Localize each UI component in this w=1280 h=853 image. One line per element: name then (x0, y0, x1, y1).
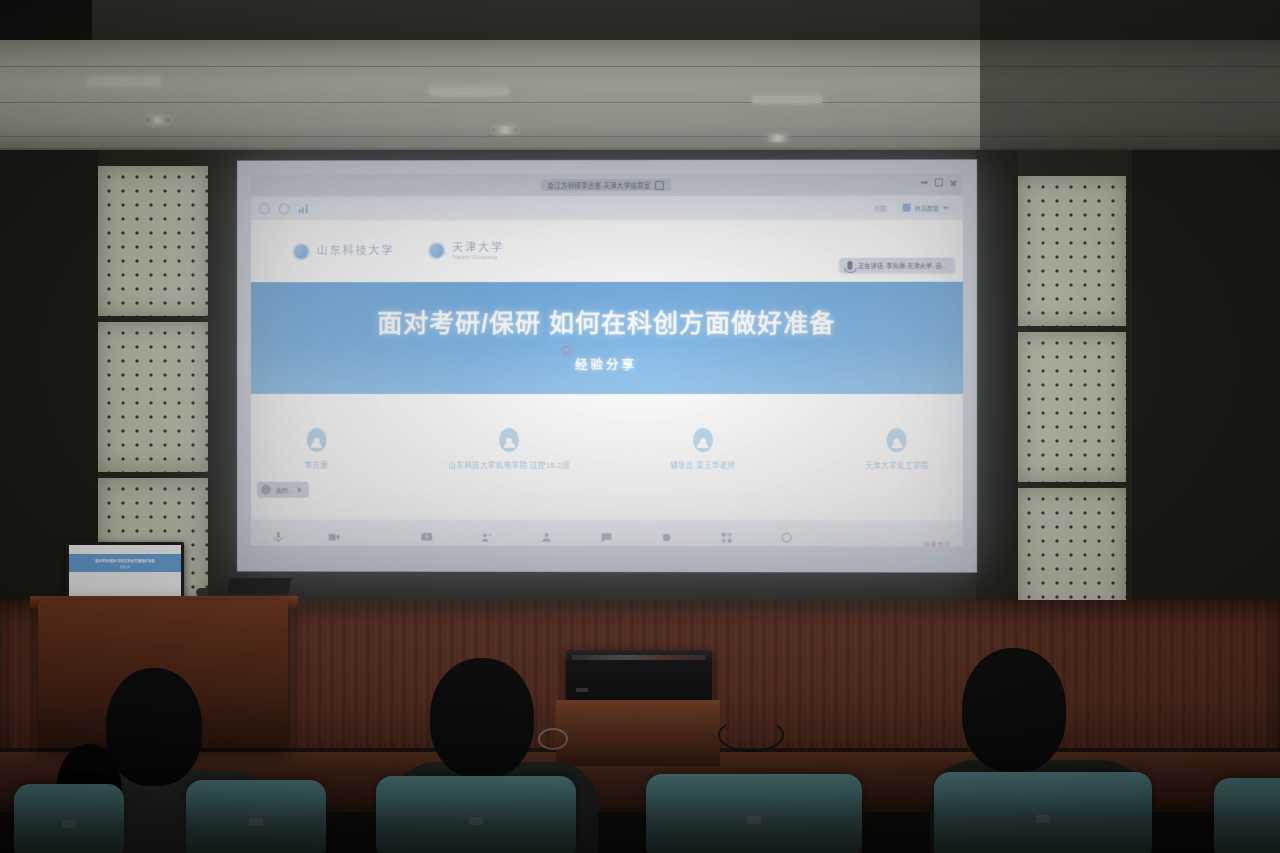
window-titlebar: 会江方师德李出差-天津大学结算室 (251, 173, 963, 196)
acoustic-panel-right-upper (1018, 176, 1126, 326)
slide-logo-row: 山东科技大学 天津大学 Tianjin University (251, 220, 963, 283)
person-icon (306, 428, 326, 452)
more-icon (780, 531, 793, 544)
meeting-title: 会江方师德李出差-天津大学结算室 (548, 180, 651, 190)
person-icon (499, 428, 519, 452)
seat-emblem-1 (62, 820, 76, 828)
acoustic-panel-left-mid (98, 322, 208, 472)
person-2-label: 山东科技大学机电学院 过控15-2班 (449, 460, 571, 471)
subbar-right: 视图 共享屏幕 (874, 196, 954, 220)
slide-person-2: 山东科技大学机电学院 过控15-2班 (444, 428, 575, 471)
layout-icon (903, 204, 911, 212)
slide-people-row: 李吉康 山东科技大学机电学院 过控15-2班 (251, 394, 963, 520)
layout-selector[interactable]: 共享屏幕 (897, 201, 955, 214)
mute-button[interactable]: 静音 (261, 531, 295, 547)
audience-head-3 (962, 648, 1066, 772)
cable-1 (718, 718, 784, 752)
more-button[interactable]: 更多 (769, 531, 803, 546)
equipment-table (556, 700, 720, 766)
maximize-icon[interactable] (935, 179, 943, 187)
person-icon (887, 428, 907, 452)
seat-4 (646, 774, 862, 853)
toolbar-left-group: 静音 开启视频 (261, 531, 351, 547)
subbar-left-icons (259, 203, 308, 214)
person-1-label: 李吉康 (305, 460, 329, 471)
person-icon (693, 428, 713, 452)
chat-icon (600, 531, 613, 544)
seat-2 (186, 780, 326, 853)
seat-5 (934, 772, 1152, 853)
apps-button[interactable]: 应用 (709, 531, 743, 546)
recessed-downlight-3 (766, 134, 790, 142)
record-icon (660, 531, 673, 544)
cable-2 (538, 728, 568, 750)
acoustic-panel-right-mid (1018, 332, 1126, 482)
laptop-screen: 面对考研/保研 如何在科创方面做好准备 经验分享 (69, 545, 181, 601)
recessed-downlight-1 (146, 116, 170, 124)
self-video-tile[interactable]: 我的... (257, 482, 309, 498)
mic-icon (271, 531, 284, 544)
person-4-label: 天津大学化工学院 (865, 460, 928, 471)
seat-emblem-5 (1036, 815, 1050, 823)
audience-head-2 (430, 658, 534, 778)
minimize-icon[interactable] (921, 182, 928, 184)
recessed-linear-light-1 (88, 78, 160, 85)
laptop-slide-band: 面对考研/保研 如何在科创方面做好准备 经验分享 (69, 554, 181, 572)
projection-screen: 会江方师德李出差-天津大学结算室 (237, 159, 977, 572)
laser-pointer-icon (562, 346, 571, 355)
window-controls[interactable] (921, 179, 957, 187)
amplifier-top-strip (572, 655, 706, 660)
meeting-toolbar: 静音 开启视频 (251, 520, 963, 547)
tju-latin: Tianjin University (452, 255, 504, 260)
acoustic-panel-left-upper (98, 166, 208, 316)
share-screen-icon (420, 531, 433, 544)
chevron-down-icon (943, 206, 949, 209)
ceiling-dark-right (980, 0, 1280, 150)
view-label[interactable]: 视图 (874, 203, 886, 212)
mic-icon (847, 261, 852, 270)
participants-button[interactable]: 管理成员 (469, 531, 503, 547)
recessed-linear-light-3 (752, 96, 822, 103)
wall-shadow-far-left (0, 150, 98, 610)
meeting-title-chip[interactable]: 会江方师德李出差-天津大学结算室 (541, 179, 672, 191)
toolbar-right-group: 结束会议 (924, 534, 951, 546)
person-3-label: 辅导员 栾玉华老师 (670, 460, 736, 471)
layout-label: 共享屏幕 (915, 203, 939, 212)
camera-icon (327, 531, 340, 544)
recessed-linear-light-2 (430, 88, 508, 95)
amplifier (566, 650, 712, 702)
end-meeting-button[interactable]: 结束会议 (924, 542, 951, 546)
participants-icon[interactable] (279, 203, 290, 214)
lecture-hall: 会江方师德李出差-天津大学结算室 (0, 0, 1280, 853)
tju-mark-icon (428, 243, 445, 260)
presenter-laptop: 面对考研/保研 如何在科创方面做好准备 经验分享 (66, 542, 184, 604)
speaking-text: 正在讲话: 李先祺-天津大学, 吕... (858, 261, 947, 270)
copy-icon[interactable] (655, 180, 664, 189)
self-tile-label: 我的... (276, 485, 293, 494)
invite-icon (540, 531, 553, 544)
projected-image: 会江方师德李出差-天津大学结算室 (237, 159, 977, 572)
participants-icon (480, 531, 493, 544)
slide-title-band: 面对考研/保研 如何在科创方面做好准备 经验分享 (251, 282, 963, 394)
slide-person-1: 李吉康 (251, 428, 382, 471)
seat-6 (1214, 778, 1280, 853)
screenshot-root: 会江方师德李出差-天津大学结算室 (0, 0, 1280, 853)
slide-title: 面对考研/保研 如何在科创方面做好准备 (377, 303, 835, 339)
close-icon[interactable] (950, 179, 957, 186)
sdust-mark-icon (293, 243, 310, 260)
seat-1 (14, 784, 124, 853)
record-button[interactable]: 录制 (649, 531, 683, 546)
avatar-icon (261, 485, 271, 495)
recessed-downlight-2 (492, 126, 518, 134)
seat-3 (376, 776, 576, 853)
audience-head-1 (106, 668, 202, 786)
share-screen-button[interactable]: 共享屏幕 (409, 531, 443, 547)
chat-button[interactable]: 聊天 (589, 531, 623, 547)
apps-icon (720, 531, 733, 544)
tju-name: 天津大学 (452, 242, 504, 255)
slide-person-4: 天津大学化工学院 (831, 428, 963, 471)
laptop-slide-title: 面对考研/保研 如何在科创方面做好准备 (95, 558, 155, 563)
record-icon[interactable] (259, 203, 270, 214)
seat-emblem-4 (747, 816, 761, 824)
invite-button[interactable]: 邀请 (529, 531, 563, 547)
toolbar-center-group: 共享屏幕 管理成员 (409, 531, 803, 547)
speaking-indicator: 正在讲话: 李先祺-天津大学, 吕... (839, 258, 955, 273)
tencent-meeting-window: 会江方师德李出差-天津大学结算室 (251, 173, 963, 546)
video-button[interactable]: 开启视频 (317, 531, 351, 547)
laptop-slide-head (69, 545, 181, 554)
network-icon[interactable] (299, 204, 308, 213)
logo-sdust: 山东科技大学 (293, 243, 395, 260)
seat-emblem-2 (249, 818, 263, 826)
sdust-name: 山东科技大学 (317, 245, 395, 258)
slide-person-3: 辅导员 栾玉华老师 (637, 428, 769, 471)
laptop-slide-subtitle: 经验分享 (120, 565, 130, 569)
seat-emblem-3 (469, 817, 483, 825)
chevron-right-icon[interactable] (298, 487, 302, 493)
logo-tju: 天津大学 Tianjin University (428, 242, 504, 260)
slide-subtitle: 经验分享 (575, 353, 637, 372)
meeting-subbar: 视图 共享屏幕 (251, 196, 963, 221)
amplifier-badge (576, 688, 588, 692)
podium-keyboard (226, 578, 291, 594)
